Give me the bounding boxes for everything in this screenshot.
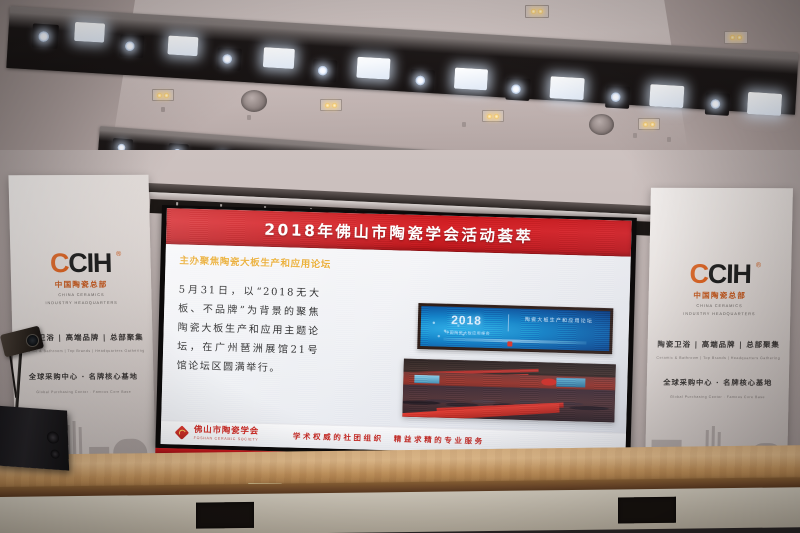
slide-title-text: 2018年佛山市陶瓷学会活动荟萃 — [264, 218, 534, 247]
sprinkler-head — [462, 122, 466, 127]
foshan-ceramic-society-logo-icon — [175, 426, 190, 439]
led-screen[interactable]: 2018年佛山市陶瓷学会活动荟萃 主办聚焦陶瓷大板生产和应用论坛 5月31日，以… — [155, 205, 636, 461]
recessed-downlight — [724, 31, 748, 44]
ceiling-air-vent — [589, 114, 614, 135]
society-name-cn: 佛山市陶瓷学会 — [194, 426, 259, 436]
stage-monitor-speaker — [0, 405, 69, 470]
spotlight-glow — [74, 22, 105, 43]
blue-banner-year: 2018 — [451, 312, 482, 327]
spotlight-glow — [167, 35, 198, 56]
forum-audience-photo — [402, 359, 615, 423]
slide-section-heading: 主办聚焦陶瓷大板生产和应用论坛 — [179, 252, 329, 270]
speaker-driver-icon — [47, 431, 59, 444]
society-name-block: 佛山市陶瓷学会 FOSHAN CERAMIC SOCIETY — [194, 426, 259, 442]
spotlight-fixture — [32, 23, 59, 48]
spotlight-glow — [747, 92, 782, 116]
blue-led-banner-photo: 2018 中国陶瓷大板应用峰会 陶瓷大板生产和应用论坛 — [417, 303, 613, 354]
apron-vent-grille — [618, 497, 676, 524]
spotlight-glow — [263, 47, 295, 69]
spotlight-fixture — [705, 92, 730, 115]
photo-side-screen-left — [414, 375, 440, 383]
blue-banner-red-accent — [507, 341, 512, 346]
photo-side-screen-right — [556, 378, 586, 387]
blue-banner-inner: 2018 中国陶瓷大板应用峰会 陶瓷大板生产和应用论坛 — [420, 306, 610, 351]
blue-banner-bar — [443, 338, 587, 345]
ceiling-air-vent — [241, 90, 267, 112]
spotlight-fixture — [217, 47, 242, 70]
recessed-downlight — [638, 118, 660, 130]
slide-paragraph: 5月31日，以“2018无大板、不品牌”为背景的聚焦陶瓷大板生产和应用主题论坛，… — [176, 280, 321, 379]
screen-surface: 2018年佛山市陶瓷学会活动荟萃 主办聚焦陶瓷大板生产和应用论坛 5月31日，以… — [161, 208, 632, 456]
spotlight-fixture — [410, 69, 435, 92]
recessed-downlight — [482, 110, 504, 122]
spotlight-glow — [356, 57, 390, 80]
camera-lens-icon — [26, 334, 39, 347]
spotlight-glow — [649, 84, 684, 108]
recessed-downlight — [152, 89, 174, 101]
recessed-downlight — [320, 99, 342, 111]
society-slogan: 学术权威的社团组织 精益求精的专业服务 — [293, 431, 485, 447]
blue-banner-divider — [508, 314, 509, 332]
screen-bezel: 2018年佛山市陶瓷学会活动荟萃 主办聚焦陶瓷大板生产和应用论坛 5月31日，以… — [155, 205, 636, 461]
slide-body: 主办聚焦陶瓷大板生产和应用论坛 5月31日，以“2018无大板、不品牌”为背景的… — [161, 244, 631, 433]
spotlight-fixture — [605, 86, 630, 109]
scene-root: CCIH ® 中国陶瓷总部 CHINA CERAMICS INDUSTRY HE… — [0, 0, 800, 533]
sprinkler-head — [247, 115, 251, 120]
spotlight-glow — [549, 76, 584, 100]
society-name-en: FOSHAN CERAMIC SOCIETY — [194, 437, 259, 442]
apron-vent-grille — [196, 502, 254, 529]
photo-stage-logo — [541, 379, 556, 386]
spotlight-fixture — [312, 59, 337, 82]
sprinkler-head — [161, 107, 165, 112]
speaker-driver-icon — [50, 449, 59, 459]
banner-sheen — [645, 188, 793, 468]
spotlight-glow — [454, 68, 488, 91]
sprinkler-head — [633, 133, 637, 138]
blue-banner-subtitle: 中国陶瓷大板应用峰会 — [445, 330, 490, 337]
spotlight-fixture — [119, 35, 144, 58]
recessed-downlight — [525, 5, 549, 18]
sprinkler-head — [667, 137, 671, 142]
slide-text-column: 主办聚焦陶瓷大板生产和应用论坛 5月31日，以“2018无大板、不品牌”为背景的… — [176, 252, 329, 379]
spotlight-fixture — [505, 78, 530, 101]
blue-banner-right-text: 陶瓷大板生产和应用论坛 — [515, 316, 602, 327]
ccih-banner-right: CCIH ® 中国陶瓷总部 CHINA CERAMICS INDUSTRY HE… — [645, 188, 793, 468]
